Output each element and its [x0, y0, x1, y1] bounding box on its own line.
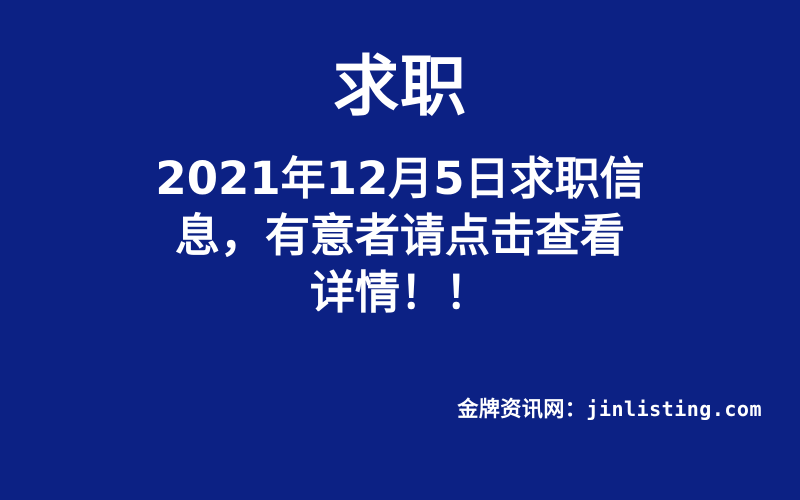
page-title: 求职 [0, 52, 800, 122]
footer-credit: 金牌资讯网：jinlisting.com [0, 396, 762, 423]
announcement-line-3: 详情！！ [150, 264, 650, 321]
announcement-line-2: 息，有意者请点击查看 [150, 207, 650, 264]
poster-canvas: 求职 2021年12月5日求职信 息，有意者请点击查看 详情！！ 金牌资讯网：j… [0, 0, 800, 500]
site-name-label: 金牌资讯网： [457, 397, 586, 421]
announcement-line-1: 2021年12月5日求职信 [150, 150, 650, 207]
announcement-body: 2021年12月5日求职信 息，有意者请点击查看 详情！！ [150, 150, 650, 321]
site-url-label: jinlisting.com [586, 397, 762, 421]
